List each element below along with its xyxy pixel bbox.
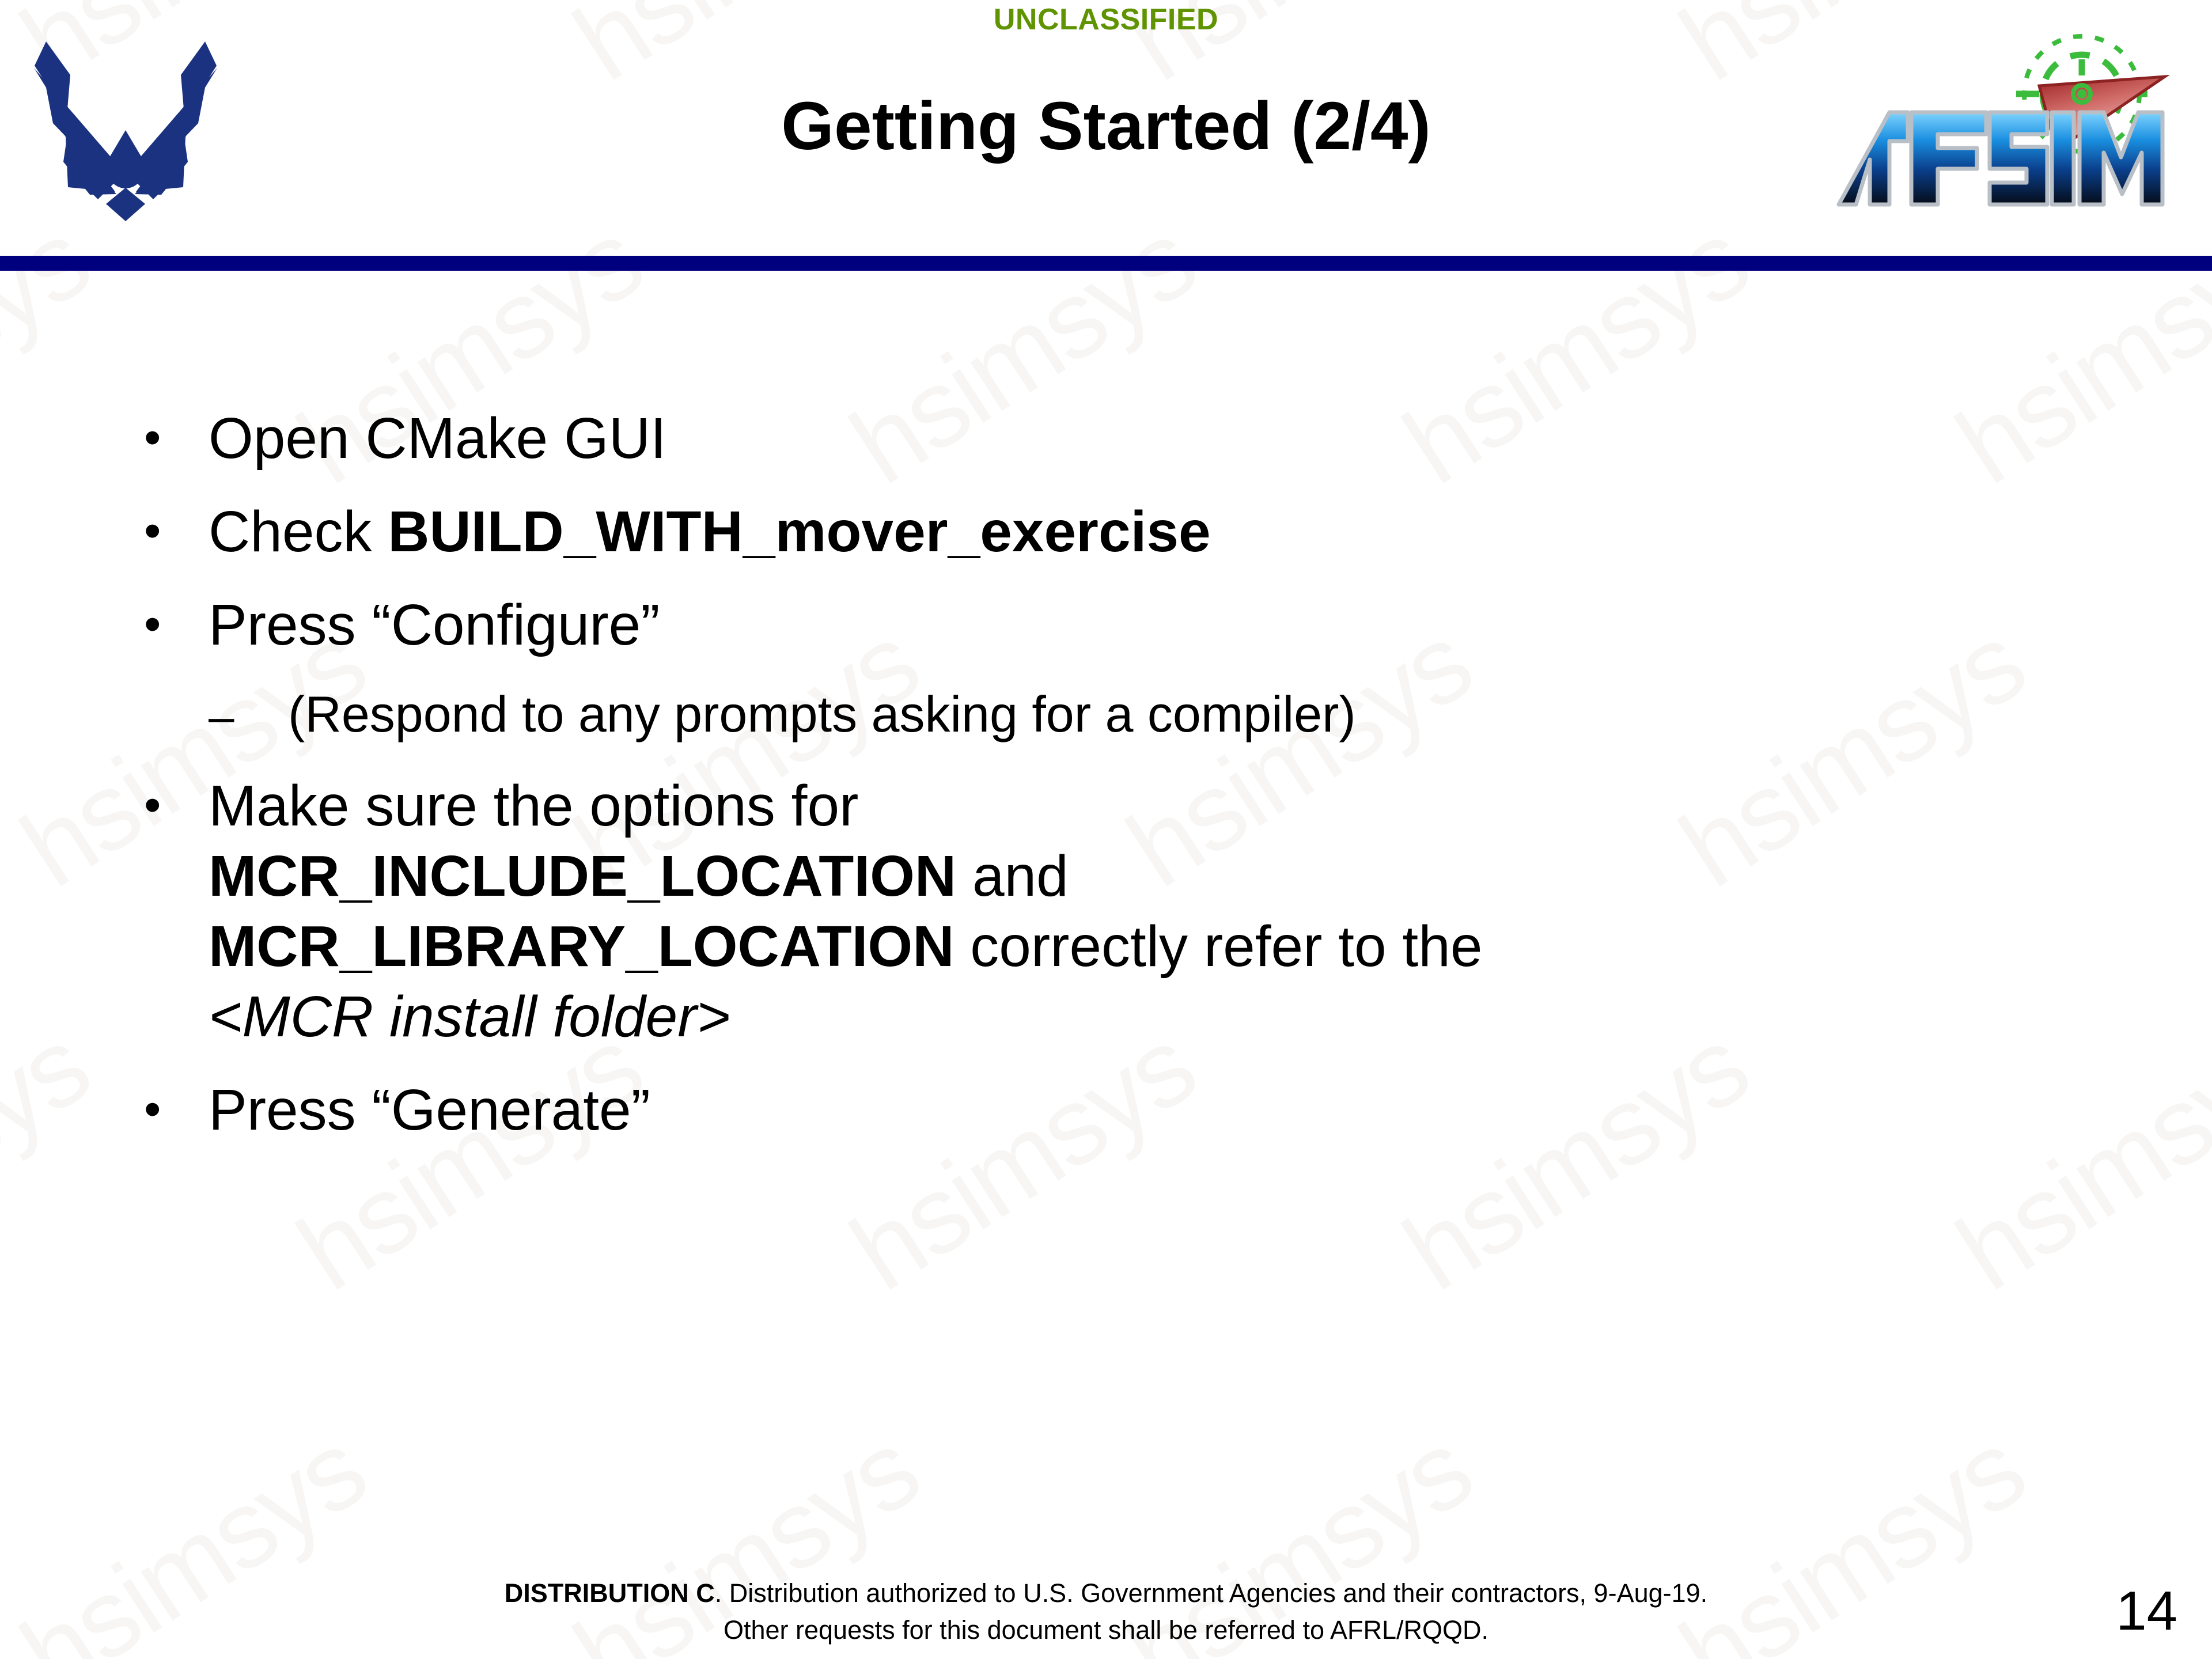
bullet-text-segment: and <box>956 844 1069 908</box>
bullet-text-segment: Check <box>209 499 388 564</box>
bullet-marker-icon: • <box>144 590 209 658</box>
bullet-marker-icon: • <box>144 497 209 565</box>
bullet-item: •Press “Generate” <box>144 1075 2068 1145</box>
distribution-statement-line-1: DISTRIBUTION C. Distribution authorized … <box>0 1575 2212 1612</box>
bullet-text-segment: correctly refer to the <box>954 914 1482 979</box>
distribution-label: DISTRIBUTION C <box>505 1578 715 1608</box>
us-air-force-logo-icon <box>10 28 241 226</box>
page-number: 14 <box>2116 1580 2177 1643</box>
bullet-item: •Press “Configure” <box>144 590 2068 660</box>
bullet-text-line: MCR_LIBRARY_LOCATION correctly refer to … <box>209 911 2068 982</box>
distribution-statement: DISTRIBUTION C. Distribution authorized … <box>0 1575 2212 1649</box>
watermark-text: hsimsys <box>0 197 110 509</box>
sub-bullet-item: –(Respond to any prompts asking for a co… <box>144 683 2068 750</box>
bullet-text: (Respond to any prompts asking for a com… <box>288 683 2068 745</box>
bullet-item: •Open CMake GUI <box>144 403 2068 474</box>
bullet-item: •Check BUILD_WITH_mover_exercise <box>144 497 2068 567</box>
bullet-marker-icon: • <box>144 771 209 839</box>
bullet-text-segment: MCR_INCLUDE_LOCATION <box>209 844 956 908</box>
bullet-text-line: <MCR install folder> <box>209 982 2068 1052</box>
watermark-text: hsimsys <box>0 1003 110 1315</box>
bullet-marker-icon: • <box>144 403 209 472</box>
distribution-statement-line-2: Other requests for this document shall b… <box>0 1612 2212 1649</box>
bullet-marker-icon: • <box>144 1075 209 1143</box>
bullet-text-segment: (Respond to any prompts asking for a com… <box>288 685 1356 743</box>
bullet-text-line: Make sure the options for <box>209 771 2068 841</box>
bullet-text-segment: Make sure the options for <box>209 774 858 838</box>
bullet-text: Press “Generate” <box>209 1075 2068 1145</box>
bullet-text-segment: BUILD_WITH_mover_exercise <box>388 499 1210 564</box>
distribution-text: . Distribution authorized to U.S. Govern… <box>715 1578 1707 1608</box>
bullet-item: •Make sure the options forMCR_INCLUDE_LO… <box>144 771 2068 1052</box>
afsim-logo-icon: AFSIM <box>1821 26 2202 233</box>
bullet-text-segment: Press “Configure” <box>209 593 660 657</box>
bullet-text-segment: Press “Generate” <box>209 1078 650 1142</box>
bullet-text-line: MCR_INCLUDE_LOCATION and <box>209 841 2068 911</box>
bullet-text-segment: MCR_LIBRARY_LOCATION <box>209 914 954 979</box>
header-divider-rule <box>0 256 2212 271</box>
bullet-text: Press “Configure” <box>209 590 2068 660</box>
bullet-text: Check BUILD_WITH_mover_exercise <box>209 497 2068 567</box>
bullet-text: Make sure the options forMCR_INCLUDE_LOC… <box>209 771 2068 1052</box>
dash-marker-icon: – <box>209 683 288 750</box>
bullet-text-segment: Open CMake GUI <box>209 406 666 471</box>
bullet-list: •Open CMake GUI•Check BUILD_WITH_mover_e… <box>144 403 2068 1168</box>
bullet-text: Open CMake GUI <box>209 403 2068 474</box>
bullet-text-segment: <MCR install folder> <box>209 984 730 1049</box>
